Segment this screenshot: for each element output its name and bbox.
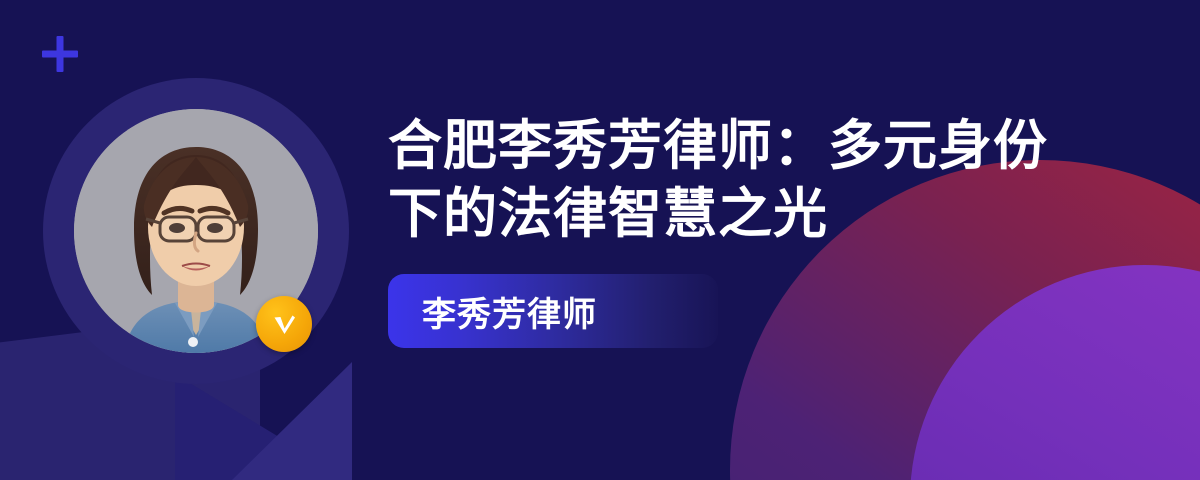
lawyer-profile-banner: 合肥李秀芳律师：多元身份下的法律智慧之光 李秀芳律师: [0, 0, 1200, 480]
plus-icon: [42, 36, 78, 72]
banner-content: 合肥李秀芳律师：多元身份下的法律智慧之光 李秀芳律师: [388, 112, 1128, 348]
lawyer-name-chip[interactable]: 李秀芳律师: [388, 274, 718, 348]
page-title: 合肥李秀芳律师：多元身份下的法律智慧之光: [388, 112, 1048, 248]
avatar: [43, 78, 349, 384]
verified-badge-icon: [256, 296, 312, 352]
